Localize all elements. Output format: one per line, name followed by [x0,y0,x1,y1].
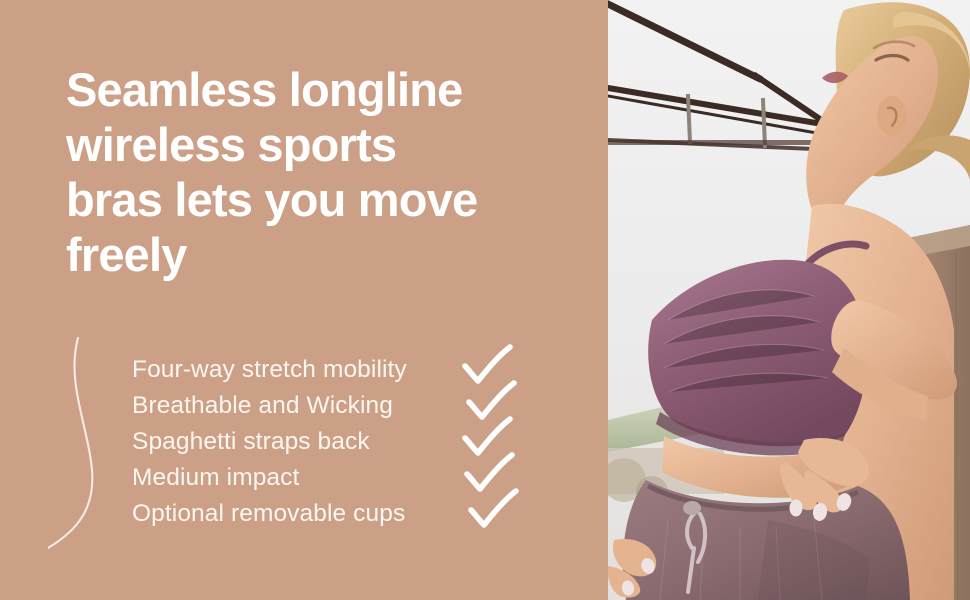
product-feature-banner: Seamless longline wireless sports bras l… [0,0,970,600]
headline: Seamless longline wireless sports bras l… [66,62,586,282]
product-photo [608,0,970,600]
copy-panel: Seamless longline wireless sports bras l… [0,0,608,600]
model-photo-illustration [608,0,970,600]
feature-list: Four-way stretch mobility Breathable and… [132,352,532,532]
feature-label: Medium impact [132,463,299,493]
feature-label: Breathable and Wicking [132,391,393,421]
feature-label: Four-way stretch mobility [132,355,407,385]
check-mark-icon [468,490,520,534]
list-item: Optional removable cups [132,496,532,532]
feature-label: Optional removable cups [132,499,405,529]
s-curve-icon [48,330,112,560]
feature-label: Spaghetti straps back [132,427,370,457]
s-curve-line-decoration [48,330,112,560]
